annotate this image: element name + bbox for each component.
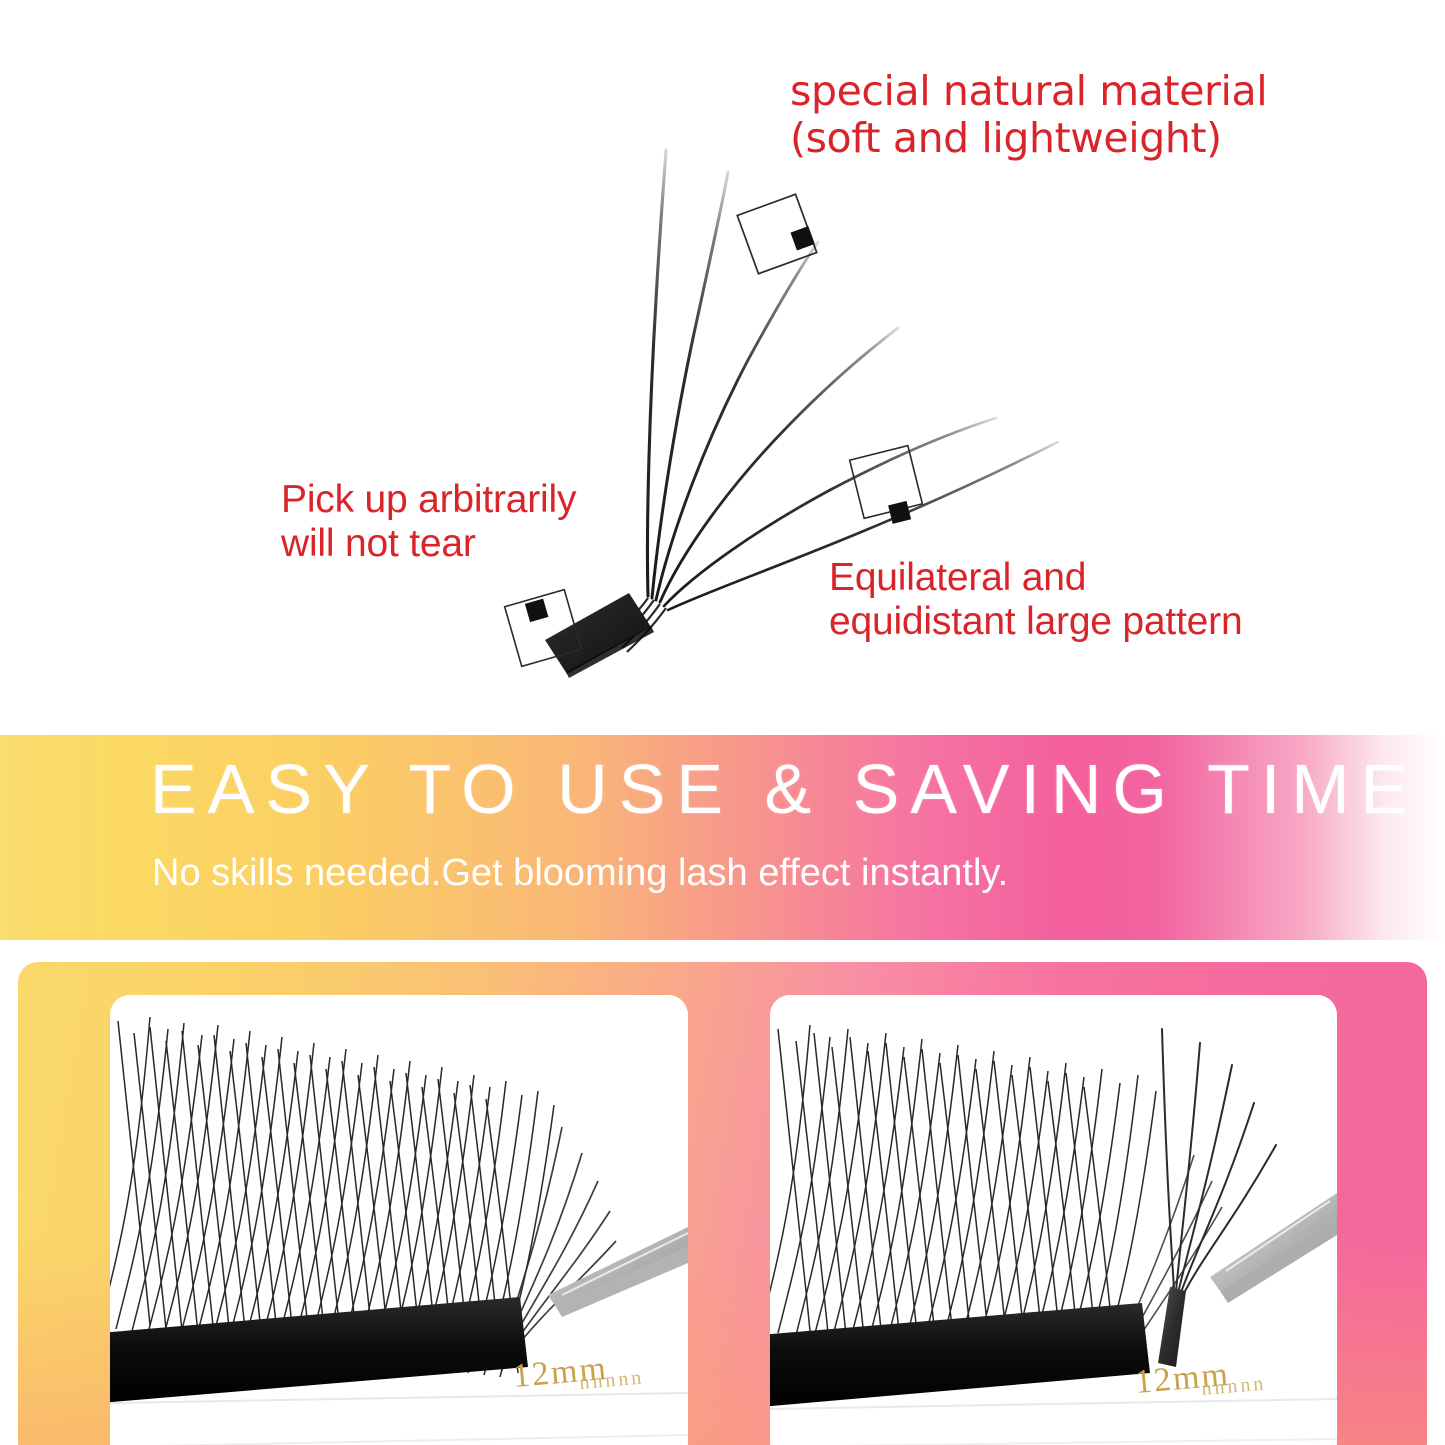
lifted-fan-photo: 12mm nnnnn [770,995,1337,1445]
callout-equilateral-pattern: Equilateral and equidistant large patter… [829,556,1242,645]
callout-pick-up-arbitrarily: Pick up arbitrarily will not tear [281,478,576,567]
diagram-section: special natural material (soft and light… [0,0,1445,735]
callout-special-natural-material: special natural material (soft and light… [790,68,1267,161]
marker-square-equilateral [850,446,923,524]
photo-card-lash-tray: 12mm nnnnn [110,995,688,1445]
banner-subtitle: No skills needed.Get blooming lash effec… [152,852,1008,895]
photo-panel: 12mm nnnnn [18,962,1427,1445]
banner-title: EASY TO USE & SAVING TIME [150,749,1418,829]
photo-card-lifted-fan: 12mm nnnnn [770,995,1337,1445]
product-feature-page: special natural material (soft and light… [0,0,1445,1445]
banner-section: EASY TO USE & SAVING TIME No skills need… [0,735,1445,940]
lash-strands [647,150,1058,610]
lash-tray-photo: 12mm nnnnn [110,995,688,1445]
lash-base [545,593,654,678]
